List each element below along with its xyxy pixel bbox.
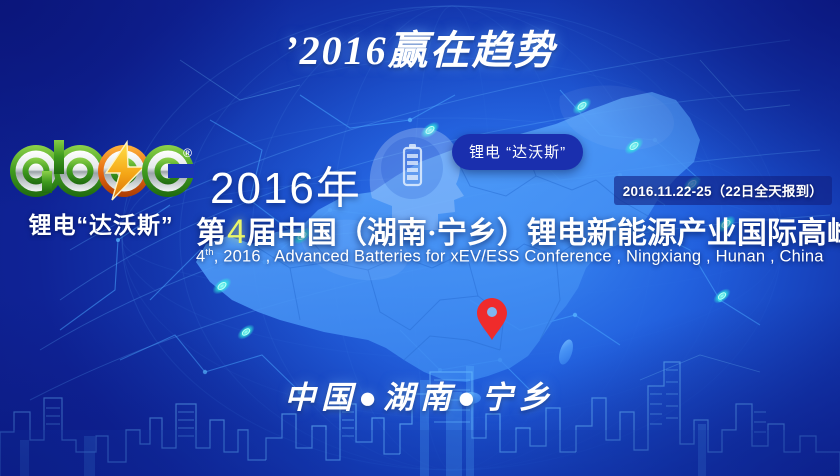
calligraphy-headline: ’2016赢在趋势 — [0, 18, 840, 76]
conference-banner: ’2016赢在趋势 — [0, 0, 840, 476]
subtitle-ordinal-suffix: th — [205, 247, 213, 258]
subtitle-rest: , 2016 , Advanced Batteries for xEV/ESS … — [214, 248, 824, 266]
abec-wordmark: ® — [8, 140, 194, 202]
location-line: 中国●湖南●宁乡 — [0, 372, 840, 417]
title-prefix: 第 — [196, 217, 226, 250]
subtitle-english: 4th, 2016 , Advanced Batteries for xEV/E… — [196, 247, 824, 267]
year-label: 2016年 — [210, 152, 362, 216]
subtitle-ordinal: 4 — [196, 248, 205, 266]
page-title: 第4届中国（湖南·宁乡）锂电新能源产业国际高峰论坛 — [196, 208, 840, 252]
abec-logo[interactable]: ® 锂电“达沃斯” — [8, 140, 194, 240]
title-suffix: 届中国（湖南·宁乡）锂电新能源产业国际高峰论坛 — [247, 217, 840, 250]
abec-letters-icon — [8, 140, 194, 202]
speech-bubble-label: 锂电 “达沃斯” — [452, 134, 583, 170]
edition-number: 4 — [226, 213, 247, 251]
registered-trademark-icon: ® — [183, 146, 192, 160]
abec-logo-subtitle: 锂电“达沃斯” — [8, 206, 194, 240]
date-badge: 2016.11.22-25（22日全天报到） — [614, 176, 832, 205]
